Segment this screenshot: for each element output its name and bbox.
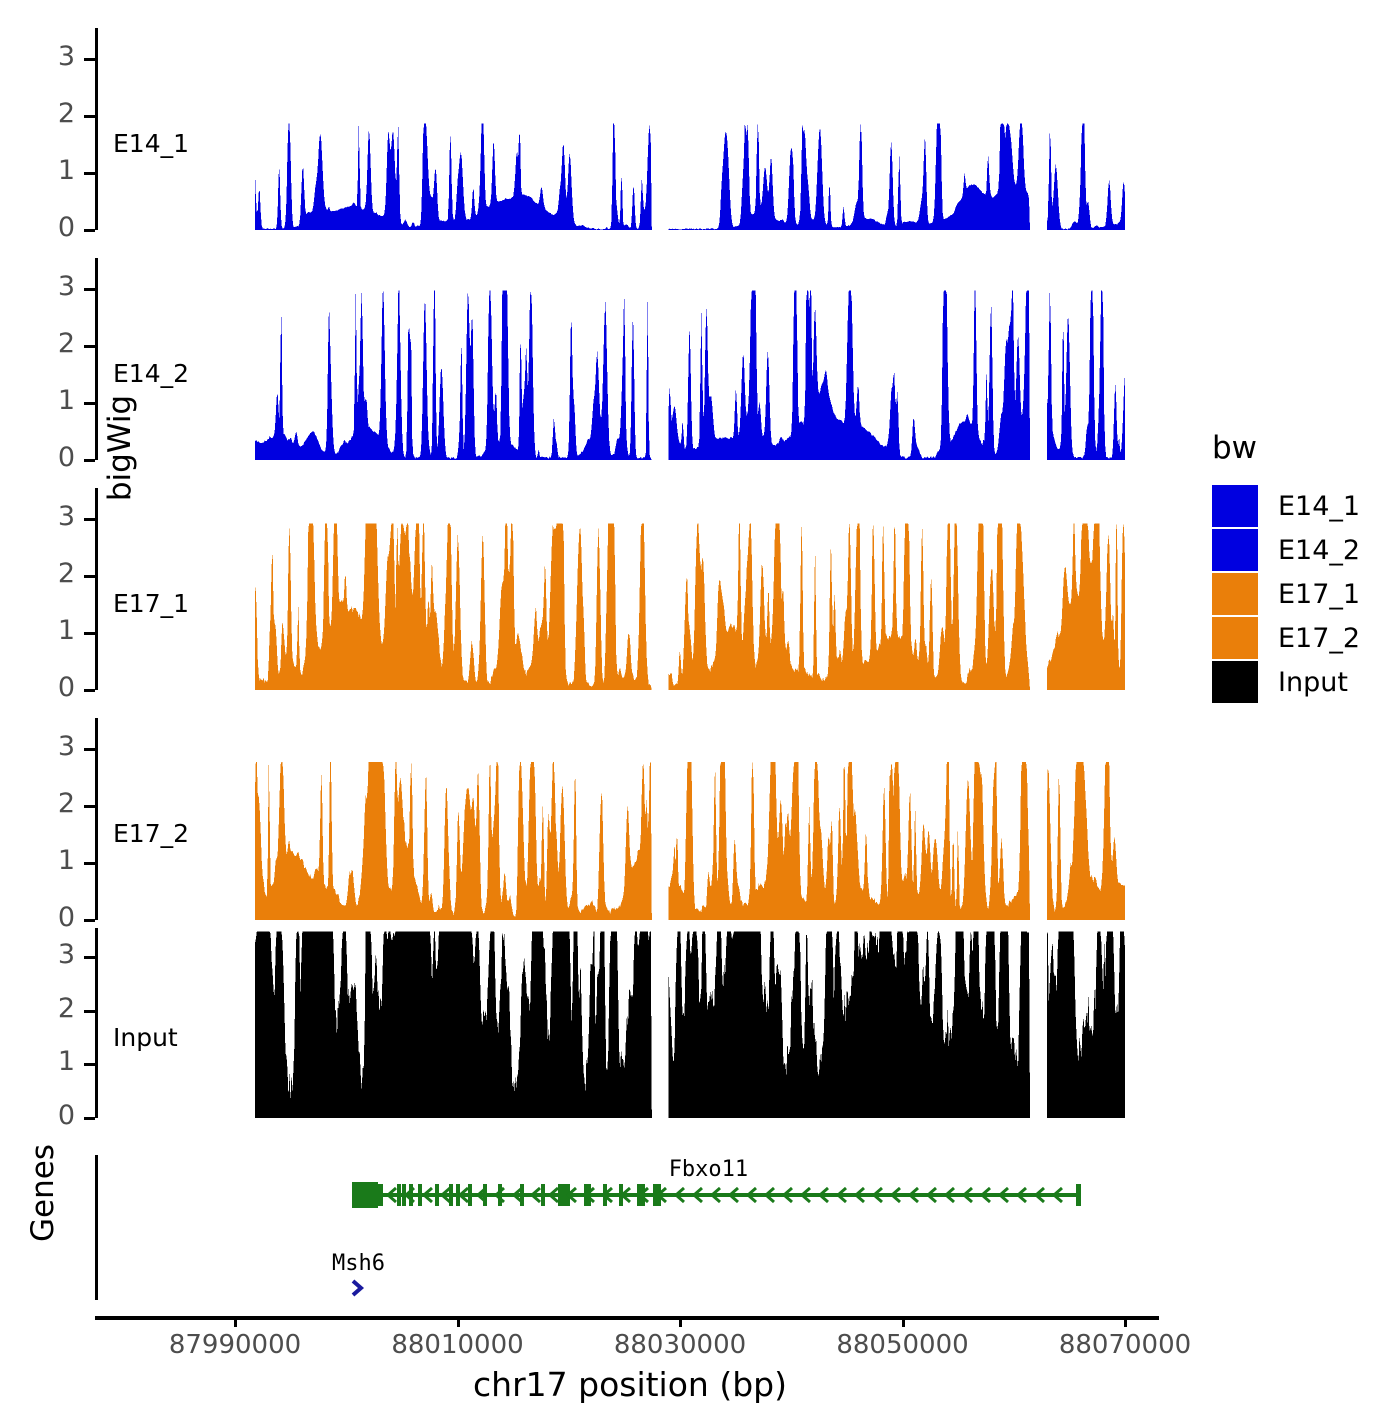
strand-arrow-left (962, 1187, 975, 1204)
track-label-E14_2: E14_2 (113, 359, 189, 388)
strand-arrow-left (1034, 1187, 1047, 1204)
strand-arrow-left (998, 1187, 1011, 1204)
strand-arrow-left (1052, 1187, 1065, 1204)
x-tick (234, 1316, 237, 1327)
strand-arrow-left (656, 1187, 669, 1204)
y-tick-label: 0 (15, 902, 75, 933)
y-tick (84, 58, 95, 61)
gene-exon (360, 1184, 364, 1206)
y-axis-line (95, 28, 98, 230)
legend-items: E14_1E14_2E17_1E17_2Input (1212, 484, 1360, 704)
x-tick (679, 1316, 682, 1327)
strand-arrow-left (854, 1187, 867, 1204)
strand-arrow-left (692, 1187, 705, 1204)
y-tick-label: 1 (15, 385, 75, 416)
strand-arrow-left (566, 1187, 579, 1204)
strand-arrow-left (476, 1187, 489, 1204)
strand-arrow-left (620, 1187, 633, 1204)
strand-arrow-left (1016, 1187, 1029, 1204)
strand-arrow-left (386, 1187, 399, 1204)
legend-swatch (1212, 529, 1258, 571)
gene-exon (353, 1184, 357, 1206)
strand-arrow-left (512, 1187, 525, 1204)
track-panel-E17_1: 0123E17_1 (95, 488, 1159, 690)
y-tick-label: 3 (15, 41, 75, 72)
strand-arrow-left (908, 1187, 921, 1204)
strand-arrow-left (782, 1187, 795, 1204)
x-axis-title: chr17 position (bp) (280, 1365, 980, 1404)
track-label-E17_2: E17_2 (113, 819, 189, 848)
strand-arrow-left (440, 1187, 453, 1204)
y-tick (84, 1117, 95, 1120)
track-panel-E14_2: 0123E14_2 (95, 258, 1159, 460)
y-axis-line (95, 488, 98, 690)
gene-end-tick (1076, 1184, 1081, 1206)
y-tick-label: 2 (15, 98, 75, 129)
strand-arrow-left (404, 1187, 417, 1204)
y-tick-label: 2 (15, 328, 75, 359)
y-tick-label: 3 (15, 501, 75, 532)
strand-arrow-left (800, 1187, 813, 1204)
x-tick-label: 88010000 (348, 1330, 568, 1360)
y-tick-label: 3 (15, 939, 75, 970)
strand-arrow-left (764, 1187, 777, 1204)
y-tick (84, 805, 95, 808)
strand-arrow-left (926, 1187, 939, 1204)
y-tick (84, 575, 95, 578)
gene-exon (379, 1184, 383, 1206)
figure-canvas: bigWig Genes 0123E14_10123E14_20123E17_1… (0, 0, 1400, 1400)
y-tick-label: 3 (15, 271, 75, 302)
strand-arrow-left (458, 1187, 471, 1204)
strand-arrow-left (944, 1187, 957, 1204)
legend-swatch (1212, 485, 1258, 527)
gene-label-fbxo11: Fbxo11 (669, 1157, 748, 1182)
y-tick (84, 1010, 95, 1013)
y-tick-label: 3 (15, 731, 75, 762)
legend-label: E17_2 (1278, 623, 1360, 654)
x-tick (902, 1316, 905, 1327)
y-tick (84, 459, 95, 462)
y-tick (84, 345, 95, 348)
x-tick (1124, 1316, 1127, 1327)
y-tick (84, 172, 95, 175)
legend-label: E17_1 (1278, 579, 1360, 610)
strand-arrow-left (746, 1187, 759, 1204)
strand-arrow-left (530, 1187, 543, 1204)
strand-arrow-left (980, 1187, 993, 1204)
legend-swatch (1212, 617, 1258, 659)
strand-arrow-left (638, 1187, 651, 1204)
x-tick-label: 88050000 (793, 1330, 1013, 1360)
y-tick-label: 1 (15, 845, 75, 876)
legend: bw E14_1E14_2E17_1E17_2Input (1212, 430, 1360, 704)
legend-item-E14_1[interactable]: E14_1 (1212, 484, 1360, 528)
strand-arrow-left (584, 1187, 597, 1204)
y-tick-label: 1 (15, 615, 75, 646)
strand-arrow-left (818, 1187, 831, 1204)
signal-area-E17_2 (235, 720, 1125, 920)
track-panel-Input: 0123Input (95, 928, 1159, 1118)
signal-area-E17_1 (235, 490, 1125, 690)
legend-item-E14_2[interactable]: E14_2 (1212, 528, 1360, 572)
y-axis-line (95, 928, 98, 1118)
signal-area-E14_2 (235, 260, 1125, 460)
y-tick-label: 0 (15, 1100, 75, 1131)
y-tick-label: 0 (15, 212, 75, 243)
track-label-Input: Input (113, 1023, 178, 1052)
strand-arrow-left (494, 1187, 507, 1204)
gene-exon (369, 1184, 373, 1206)
x-tick (457, 1316, 460, 1327)
y-tick (84, 862, 95, 865)
y-tick (84, 518, 95, 521)
y-tick-label: 2 (15, 993, 75, 1024)
y-axis-line (95, 258, 98, 460)
strand-arrow-left (872, 1187, 885, 1204)
y-tick (84, 689, 95, 692)
legend-item-E17_2[interactable]: E17_2 (1212, 616, 1360, 660)
genes-axis-line (95, 1155, 98, 1300)
gene-body-msh6[interactable] (350, 1279, 366, 1299)
legend-swatch (1212, 573, 1258, 615)
y-tick-label: 2 (15, 788, 75, 819)
y-tick (84, 115, 95, 118)
legend-label: E14_2 (1278, 535, 1360, 566)
strand-arrow-left (890, 1187, 903, 1204)
strand-arrow-left (836, 1187, 849, 1204)
legend-label: E14_1 (1278, 491, 1360, 522)
y-tick-label: 2 (15, 558, 75, 589)
strand-arrow-left (674, 1187, 687, 1204)
y-axis-label-genes: Genes (25, 1108, 61, 1278)
y-tick-label: 0 (15, 672, 75, 703)
legend-swatch (1212, 661, 1258, 703)
legend-label: Input (1278, 667, 1348, 698)
y-tick (84, 919, 95, 922)
legend-title: bw (1212, 430, 1360, 466)
track-panel-E14_1: 0123E14_1 (95, 28, 1159, 230)
y-tick (84, 402, 95, 405)
signal-area-Input (235, 930, 1125, 1118)
x-tick-label: 87990000 (125, 1330, 345, 1360)
signal-area-E14_1 (235, 30, 1125, 230)
track-label-E17_1: E17_1 (113, 589, 189, 618)
track-panel-E17_2: 0123E17_2 (95, 718, 1159, 920)
strand-arrow-left (602, 1187, 615, 1204)
legend-item-Input[interactable]: Input (1212, 660, 1360, 704)
legend-item-E17_1[interactable]: E17_1 (1212, 572, 1360, 616)
y-tick-label: 1 (15, 1046, 75, 1077)
strand-arrow-left (710, 1187, 723, 1204)
track-label-E14_1: E14_1 (113, 129, 189, 158)
strand-arrow-left (548, 1187, 561, 1204)
y-tick-label: 0 (15, 442, 75, 473)
y-tick (84, 956, 95, 959)
x-tick-label: 88030000 (570, 1330, 790, 1360)
y-tick (84, 229, 95, 232)
x-tick-label: 88070000 (1015, 1330, 1235, 1360)
strand-arrow-left (728, 1187, 741, 1204)
y-axis-line (95, 718, 98, 920)
y-tick (84, 748, 95, 751)
strand-arrow-left (422, 1187, 435, 1204)
x-axis-line (95, 1316, 1159, 1320)
gene-label-msh6: Msh6 (332, 1251, 385, 1276)
y-tick-label: 1 (15, 155, 75, 186)
y-tick (84, 632, 95, 635)
y-tick (84, 1063, 95, 1066)
y-tick (84, 288, 95, 291)
